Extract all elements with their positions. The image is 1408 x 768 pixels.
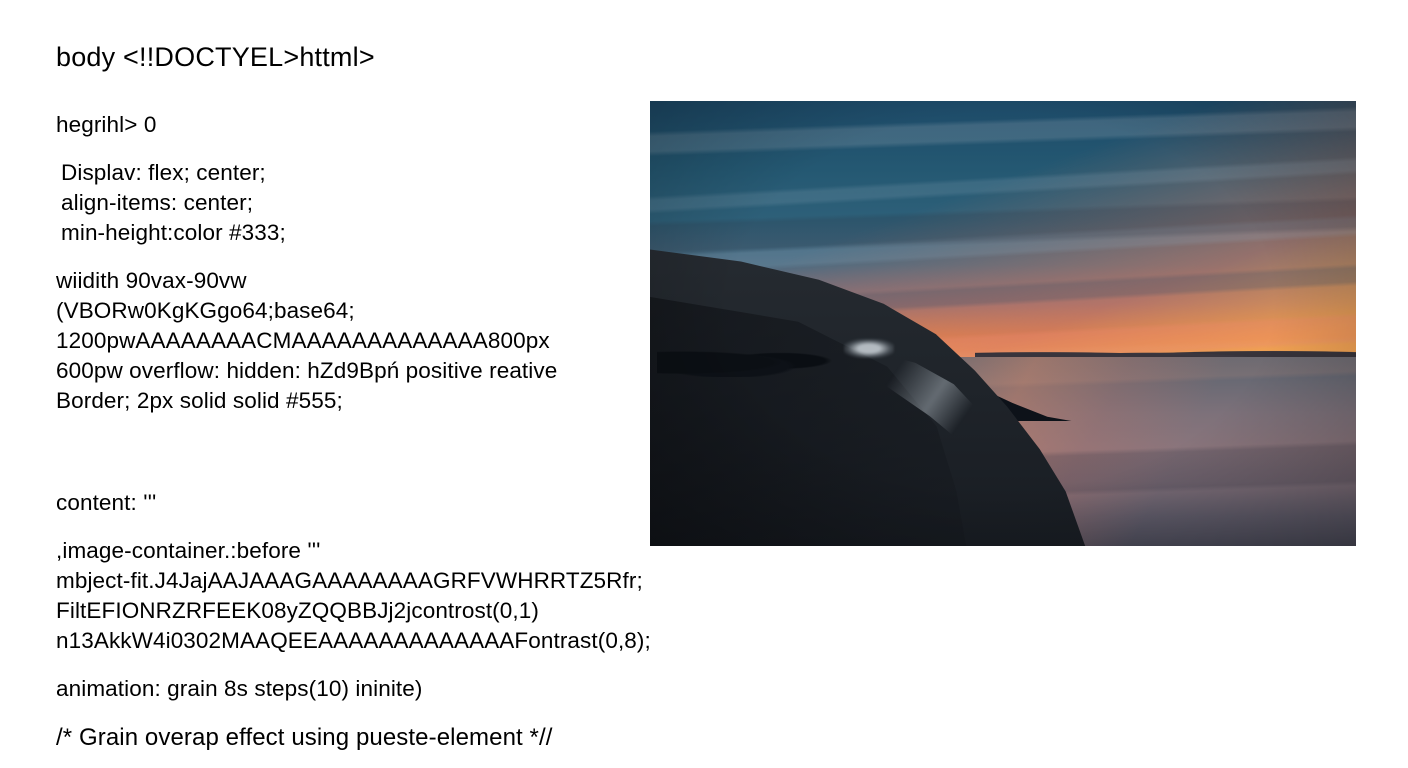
code-line: animation: grain 8s steps(10) ininite)	[56, 674, 716, 704]
code-block-content: content: '''	[56, 488, 716, 518]
code-line: mbject-fit.J4JajAAJAAAGAAAAAAAAGRFVWHRRT…	[56, 566, 716, 596]
code-line: ,image-container.:before '''	[56, 536, 716, 566]
code-block-animation: animation: grain 8s steps(10) ininite)	[56, 674, 716, 704]
code-line: hegrihl> 0	[56, 110, 716, 140]
code-text-column: body <!!DOCTYEL>httml> hegrihl> 0 Displa…	[56, 40, 716, 754]
photo-canvas	[650, 101, 1356, 546]
code-block-display: Displav: flex; center; align-items: cent…	[56, 158, 716, 248]
code-line: wiidith 90vax-90vw	[56, 266, 716, 296]
code-block-hegrihl: hegrihl> 0	[56, 110, 716, 140]
code-block-width: wiidith 90vax-90vw (VBORw0KgKGgo64;base6…	[56, 266, 716, 416]
code-line: Displav: flex; center;	[61, 158, 716, 188]
code-line: content: '''	[56, 488, 716, 518]
code-line: min-height:color #333;	[61, 218, 716, 248]
code-line: 1200pwAAAAAAAACMAAAAAAAAAAAAA800px	[56, 326, 716, 356]
photo-vignette	[650, 101, 1356, 546]
code-line: 600pw overflow: hidden: hZd9Bpń positive…	[56, 356, 716, 386]
code-block-before: ,image-container.:before ''' mbject-fit.…	[56, 536, 716, 656]
code-line: FiltEFIONRZRFEEK08yZQQBBJj2jcontrost(0,1…	[56, 596, 716, 626]
code-heading: body <!!DOCTYEL>httml>	[56, 40, 716, 74]
code-line: align-items: center;	[61, 188, 716, 218]
sunset-beach-photograph	[650, 101, 1356, 546]
code-line: (VBORw0KgKGgo64;base64;	[56, 296, 716, 326]
code-comment-grain-overlap: /* Grain overap effect using pueste-elem…	[56, 722, 716, 754]
code-line: n13AkkW4i0302MAAQEEAAAAAAAAAAAAAFontrast…	[56, 626, 716, 656]
code-line: Border; 2px solid solid #555;	[56, 386, 716, 416]
